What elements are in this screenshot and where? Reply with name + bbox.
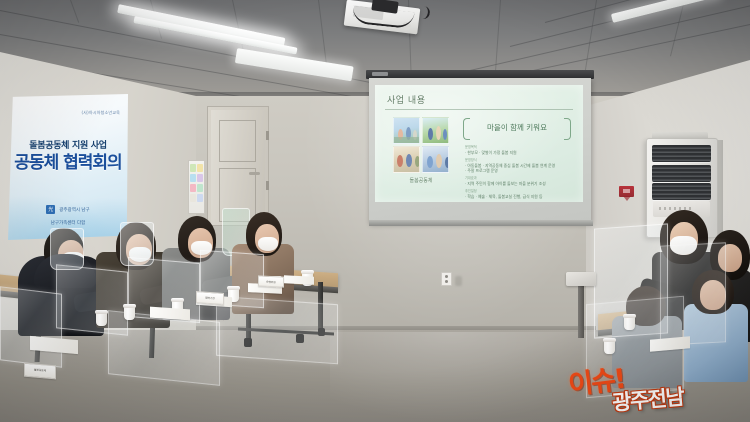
door-handle[interactable] xyxy=(249,172,260,175)
paper-cup[interactable] xyxy=(604,340,615,354)
slide-photo-caption: 돌봄공동체 xyxy=(393,177,449,184)
fire-safety-sign-tail xyxy=(623,196,631,201)
name-card: 운영위원 xyxy=(258,275,284,287)
podium-stand xyxy=(578,282,584,338)
acrylic-divider-lower xyxy=(216,296,338,365)
slide-section-line: · 지역 주민이 함께 아이를 돌보는 마을 분위기 조성 xyxy=(465,181,569,186)
slide-bubble-text: 마을이 함께 키워요 xyxy=(463,122,571,133)
paper-cup[interactable] xyxy=(96,312,107,326)
slide-body-text: 운영목적 · 한부모 · 맞벌이 가정 돌봄 지원 운영방식 · 아동돌봄 · … xyxy=(465,142,569,199)
name-card-text: 협력기관 xyxy=(197,295,223,301)
slide-photo-grid xyxy=(393,117,449,173)
wall-outlet[interactable] xyxy=(441,272,452,286)
slide-section-line: · 주말 프로그램 운영 xyxy=(465,168,569,173)
paper-cup[interactable] xyxy=(624,316,635,330)
acrylic-divider-front xyxy=(0,286,62,368)
banner-title: 공동체 협력회의 xyxy=(8,154,128,174)
banner-org-logo: (사)아시아청소년교육 xyxy=(82,110,120,116)
slide-photo xyxy=(393,117,420,144)
slide-section-heading: 추진일정 xyxy=(465,188,569,193)
projection-screen-weight-bar xyxy=(369,220,593,226)
presentation-slide: 사업 내용 돌 xyxy=(375,85,583,202)
podium-device xyxy=(566,272,596,286)
acrylic-divider-lower xyxy=(108,310,220,386)
banner-subtitle: 돌봄공동체 지원 사업 xyxy=(8,138,128,151)
paper-cup[interactable] xyxy=(124,306,135,320)
photo-scene: AIR CON 사업 내용 xyxy=(0,0,750,422)
slide-photo xyxy=(393,146,420,173)
banner-footer-left-text: 광주광역시 남구 xyxy=(59,207,89,213)
slide-photo xyxy=(422,146,449,173)
slide-divider xyxy=(385,109,573,110)
name-card-text: 운영위원 xyxy=(259,279,283,284)
person-mask xyxy=(258,237,278,251)
watermark-line-2: 광주전남 xyxy=(611,381,685,417)
slide-photo xyxy=(422,117,449,144)
watermark: 이슈! 광주전남 xyxy=(568,360,744,416)
wall-outlet-shadow xyxy=(455,276,462,286)
wall-poster xyxy=(188,160,205,214)
slide-section-line: · 한부모 · 맞벌이 가정 돌봄 지원 xyxy=(465,150,569,155)
slide-section-heading: 운영목적 xyxy=(465,144,569,149)
slide-highlight-bubble: 마을이 함께 키워요 xyxy=(463,118,571,138)
slide-title: 사업 내용 xyxy=(387,93,425,106)
banner-footer-left: 光 광주광역시 남구 xyxy=(8,205,128,214)
slide-section-heading: 운영방식 xyxy=(465,157,569,162)
slide-section-heading: 기대효과 xyxy=(465,175,569,180)
document-sheet[interactable] xyxy=(284,275,314,285)
name-card: 돌봄공동체 xyxy=(24,363,56,380)
slide-section-line: · 학습 · 예술 · 체육, 돌봄교실 진행, 급식 지원 등 xyxy=(465,194,569,199)
banner-city-mark: 光 xyxy=(46,205,55,214)
name-card: 협력기관 xyxy=(196,291,224,305)
name-card-text: 돌봄공동체 xyxy=(25,367,55,374)
